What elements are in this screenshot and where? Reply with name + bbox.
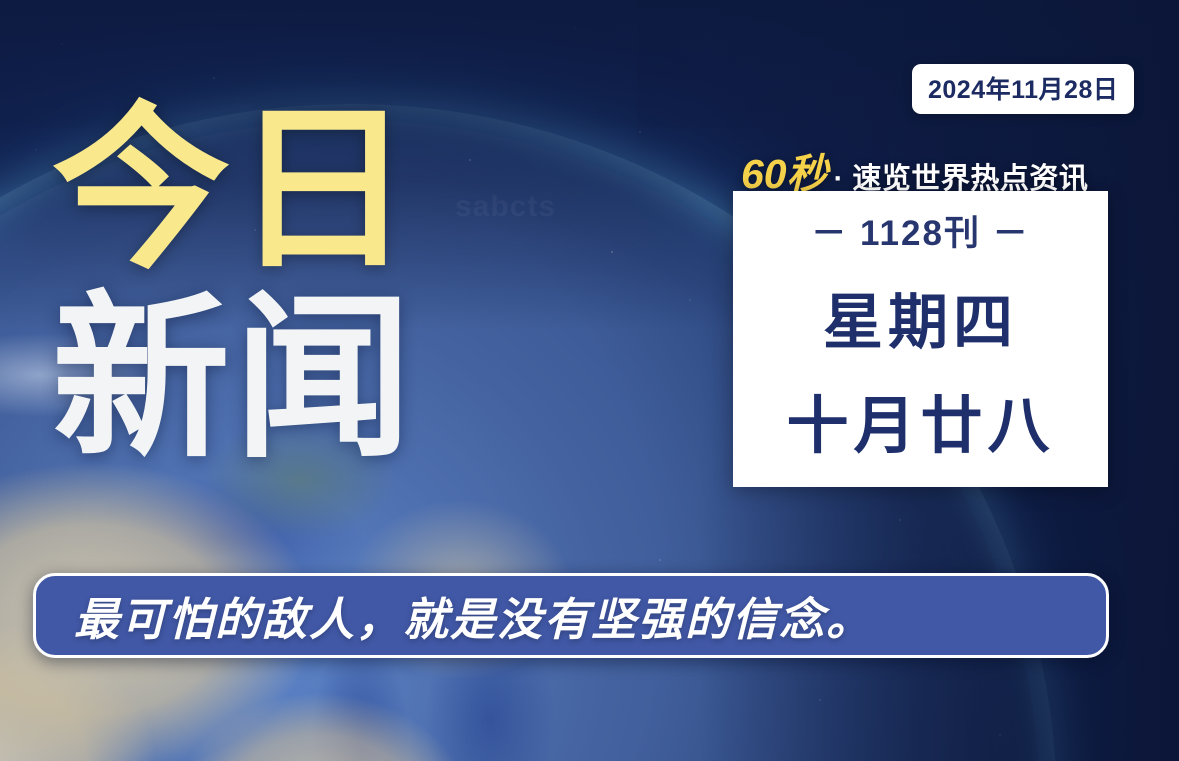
headline-line-news: 新闻 [52,285,482,474]
headline-block: 今日 新闻 [52,96,482,473]
quote-text: 最可怕的敌人，就是没有坚强的信念。 [74,583,873,648]
weekday-label: 星期四 [823,274,1018,361]
headline-line-today: 今日 [52,96,482,285]
date-badge: 2024年11月28日 [912,64,1134,114]
news-poster: sabcts 今日 新闻 2024年11月28日 60秒 · 速览世界热点资讯 … [0,0,1179,761]
quote-bar: 最可怕的敌人，就是没有坚强的信念。 [33,573,1109,658]
info-card: － 1128刊 － 星期四 十月廿八 [733,191,1108,487]
issue-number: － 1128刊 － [811,205,1029,256]
lunar-date-label: 十月廿八 [786,375,1054,465]
